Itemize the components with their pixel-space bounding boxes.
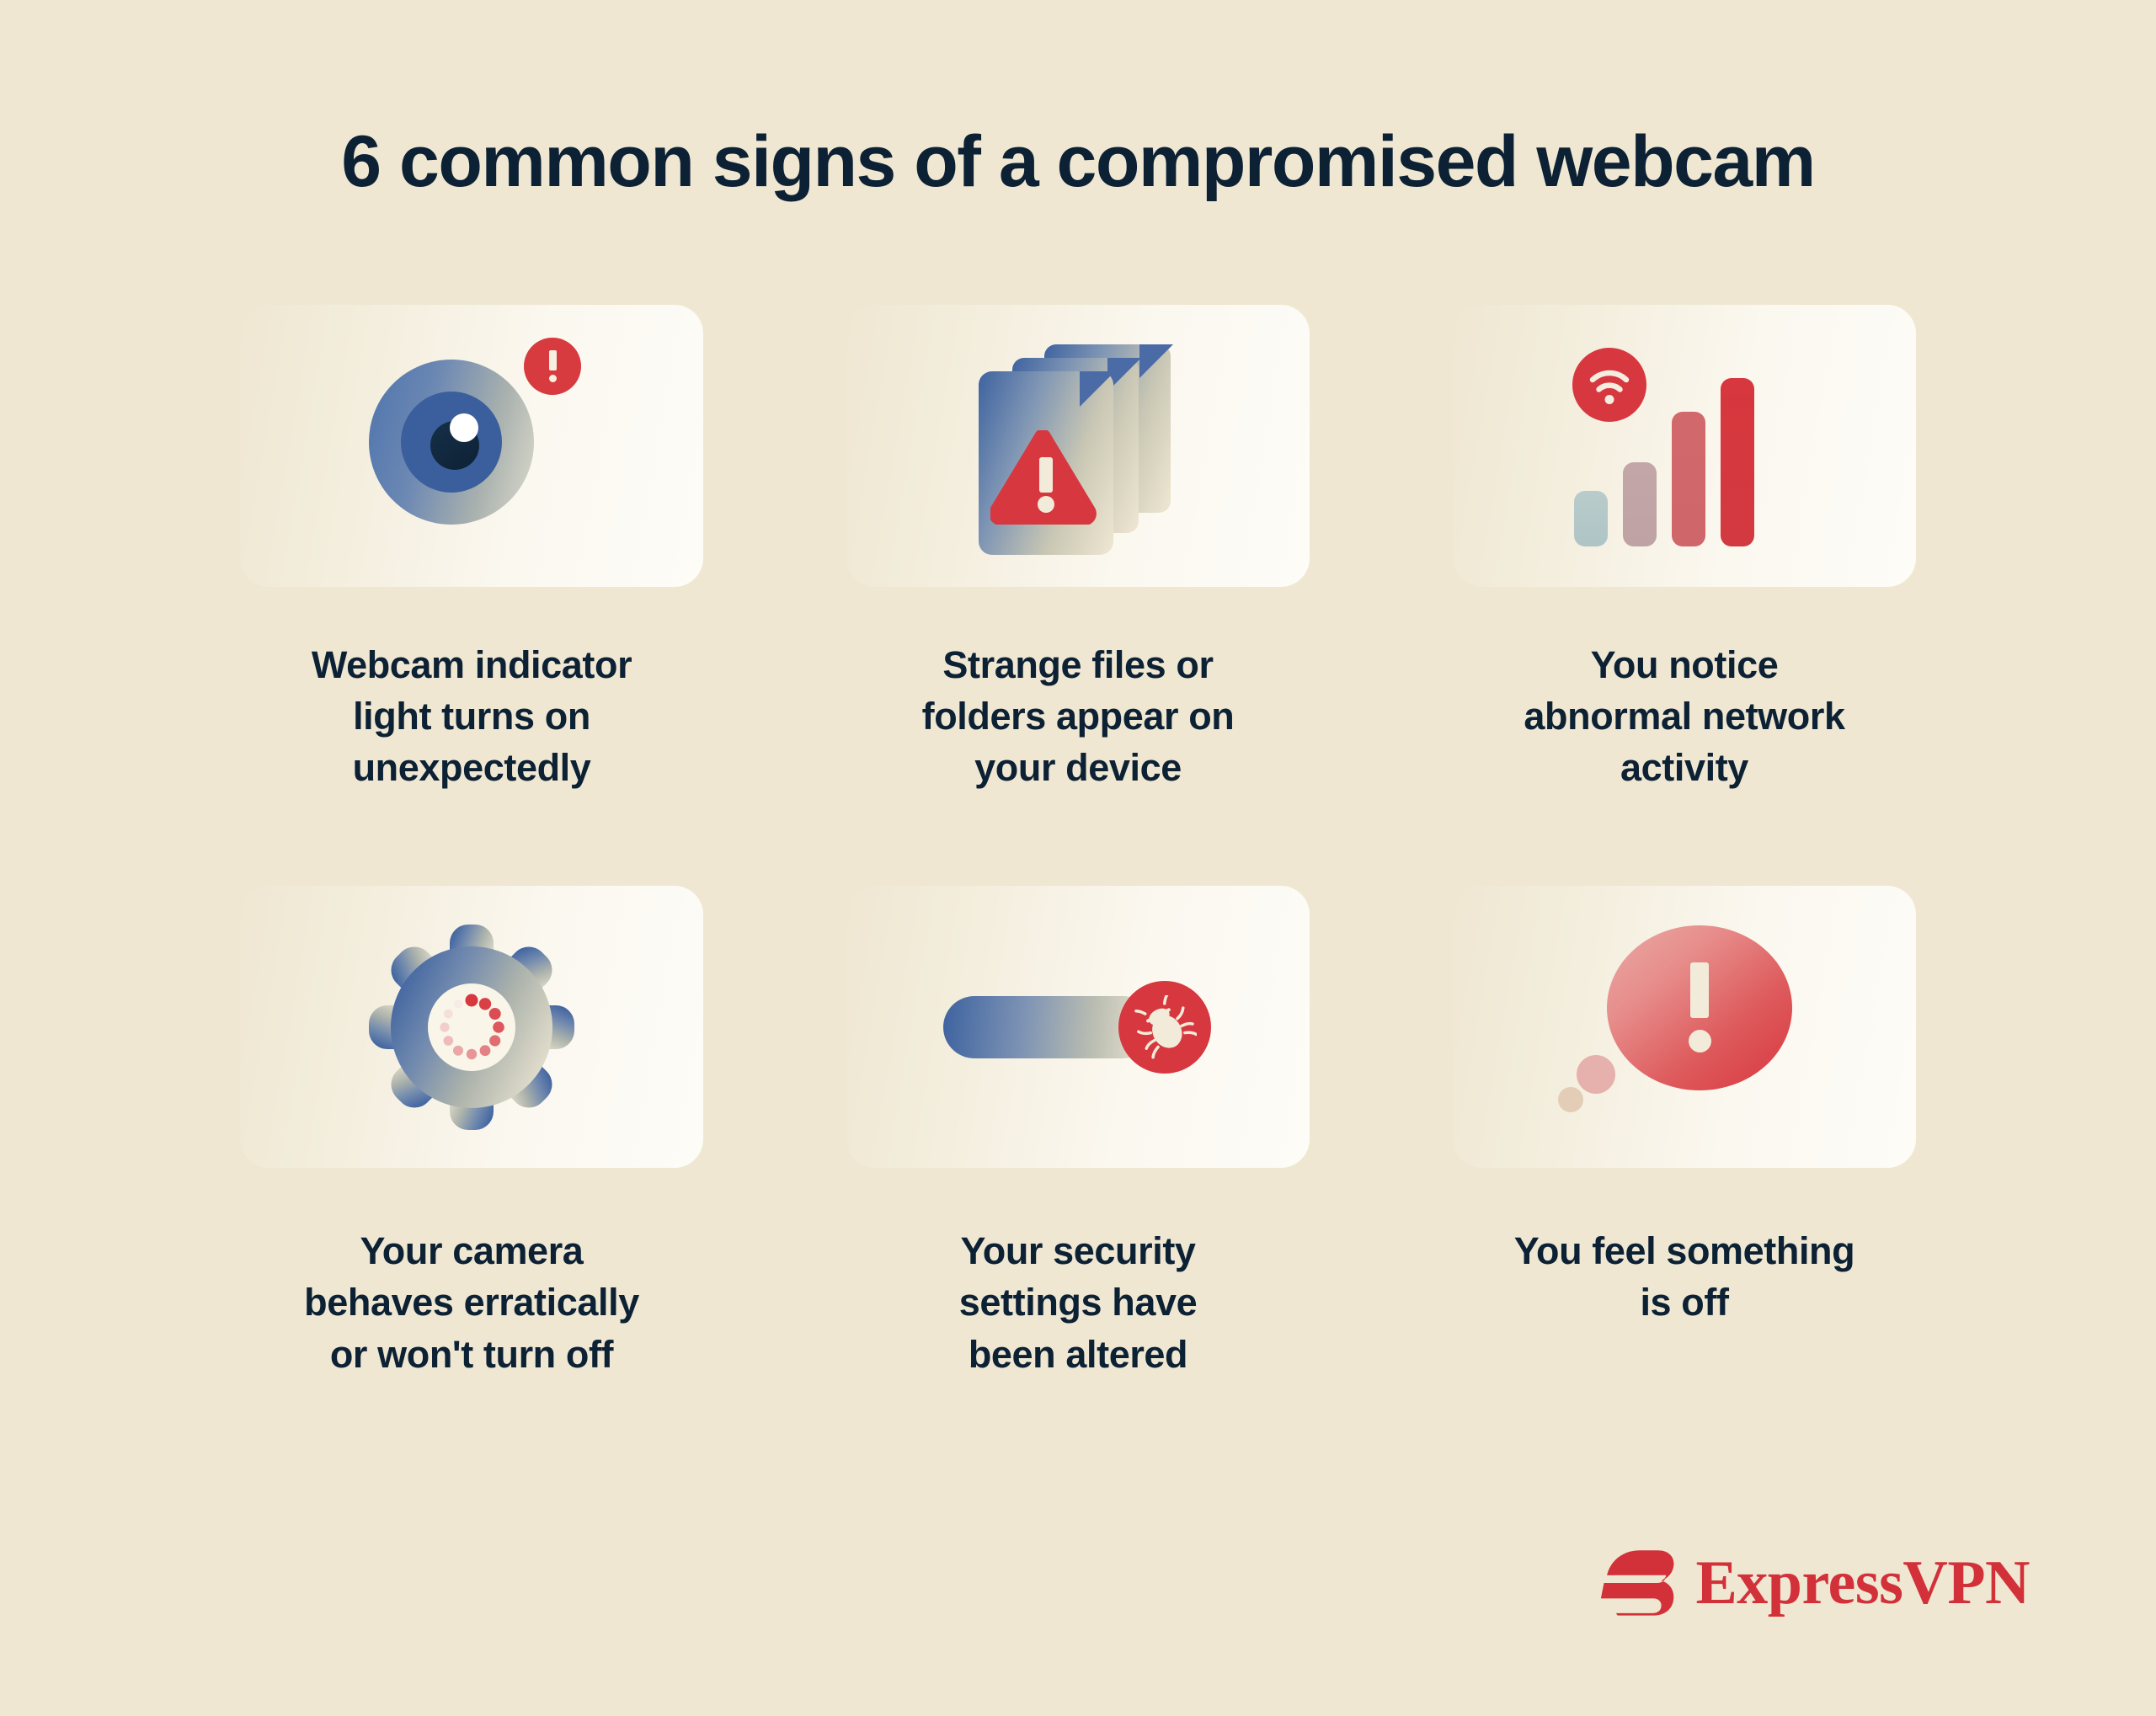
sign-card-something-feels-off: You feel something is off xyxy=(1453,886,1916,1380)
lens-highlight xyxy=(450,413,478,442)
sign-caption: Your security settings have been altered xyxy=(959,1225,1197,1380)
signs-grid: Webcam indicator light turns on unexpect… xyxy=(0,305,2156,1380)
infographic-root: 6 common signs of a compromised webcam xyxy=(0,0,2156,1716)
signal-bar-1 xyxy=(1574,491,1608,546)
network-signal-bars-wifi-icon xyxy=(1571,344,1798,546)
signal-bar-2 xyxy=(1623,462,1657,546)
icon-card xyxy=(846,886,1310,1168)
expressvpn-e-mark-icon xyxy=(1599,1544,1677,1622)
warning-triangle-icon xyxy=(990,430,1102,525)
sign-card-strange-files: Strange files or folders appear on your … xyxy=(846,305,1310,794)
thought-bubble-small-2 xyxy=(1558,1087,1583,1112)
sign-card-webcam-indicator-light: Webcam indicator light turns on unexpect… xyxy=(240,305,703,794)
expressvpn-wordmark: ExpressVPN xyxy=(1695,1552,2030,1614)
sign-caption: You notice abnormal network activity xyxy=(1524,639,1844,794)
sign-caption: Your camera behaves erratically or won't… xyxy=(304,1225,639,1380)
sign-caption: Strange files or folders appear on your … xyxy=(922,639,1235,794)
bug-icon xyxy=(1133,995,1197,1059)
icon-card xyxy=(1453,305,1916,587)
stacked-files-warning-icon xyxy=(960,336,1196,555)
expressvpn-logo: ExpressVPN xyxy=(1599,1544,2030,1622)
thought-bubble-small-1 xyxy=(1577,1055,1615,1094)
sign-card-camera-erratic: Your camera behaves erratically or won't… xyxy=(240,886,703,1380)
alert-badge-icon xyxy=(524,338,581,395)
wifi-icon xyxy=(1572,348,1646,422)
camera-lens-alert-icon xyxy=(345,336,598,555)
icon-card xyxy=(240,305,703,587)
gear-icon xyxy=(362,922,581,1132)
signal-bar-4 xyxy=(1721,378,1754,546)
file-fold-front xyxy=(1080,371,1115,407)
signal-bar-3 xyxy=(1672,412,1705,546)
icon-card xyxy=(240,886,703,1168)
sign-caption: Webcam indicator light turns on unexpect… xyxy=(312,639,632,794)
thought-bubble-exclamation-icon xyxy=(1558,922,1811,1132)
thought-bubble-main xyxy=(1607,925,1792,1090)
sign-card-security-settings-altered: Your security settings have been altered xyxy=(846,886,1310,1380)
file-fold-back xyxy=(1139,344,1173,378)
sign-card-abnormal-network-activity: You notice abnormal network activity xyxy=(1453,305,1916,794)
gear-spinner-icon xyxy=(362,922,581,1132)
icon-card xyxy=(1453,886,1916,1168)
toggle-switch-bug-icon xyxy=(943,981,1213,1074)
wifi-badge xyxy=(1572,348,1646,422)
page-title: 6 common signs of a compromised webcam xyxy=(0,0,2156,202)
toggle-knob xyxy=(1118,981,1211,1074)
icon-card xyxy=(846,305,1310,587)
sign-caption: You feel something is off xyxy=(1514,1225,1855,1328)
